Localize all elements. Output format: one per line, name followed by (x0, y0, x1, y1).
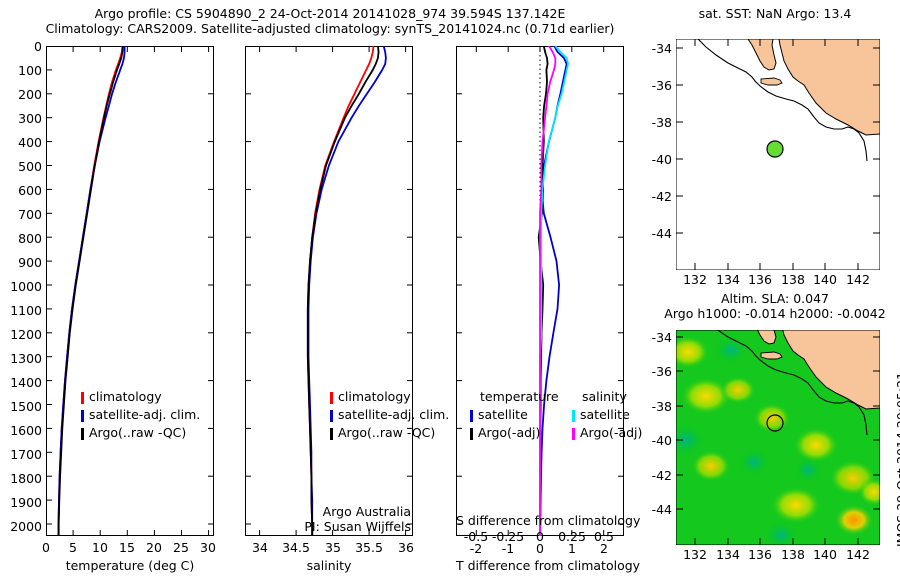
legend-swatch-argo-salinity (330, 428, 333, 440)
depth-tick-500: 500 (0, 159, 42, 174)
salinity-xtick-35: 35 (315, 540, 351, 555)
sla-blob (753, 403, 791, 433)
sla-blob-low (739, 449, 769, 475)
legend-swatch-satellite-adj-salinity (330, 410, 333, 422)
legend-label-temperature-satellite: satellite (478, 407, 528, 422)
sla-blob (770, 486, 822, 524)
temperature-axis-label: temperature (deg C) (46, 558, 214, 573)
legend-label-argo-salinity: Argo(..raw -QC) (338, 425, 435, 440)
legend-swatch-salinity-argo-adj (572, 428, 575, 440)
legend-heading-temperature: temperature (480, 389, 559, 404)
temperature-difference-axis-label: T difference from climatology (456, 558, 624, 573)
salinity-axis-label: salinity (245, 558, 413, 573)
sla-blob-low (715, 337, 747, 363)
sla-xtick-134: 134 (711, 547, 745, 562)
sst-xtick-134: 134 (711, 272, 745, 287)
argo-profile-figure: Argo profile: CS 5904890_2 24-Oct-2014 2… (0, 0, 900, 580)
salinity-plot (245, 46, 413, 536)
sla-blob (691, 450, 731, 482)
sst-map (676, 39, 880, 270)
figure-title-line1: Argo profile: CS 5904890_2 24-Oct-2014 2… (0, 6, 660, 21)
sla-xtick-136: 136 (743, 547, 777, 562)
legend-swatch-climatology-salinity (330, 392, 333, 404)
temperature-xtick-25: 25 (167, 540, 195, 555)
sst-ytick--34: -34 (640, 41, 672, 56)
argo-float-marker (767, 141, 783, 157)
temperature-xtick-20: 20 (140, 540, 168, 555)
salinity-xtick-355: 35.5 (351, 540, 387, 555)
depth-tick-1400: 1400 (0, 375, 42, 390)
legend-swatch-salinity-satellite (572, 410, 575, 422)
temperature-xtick-30: 30 (194, 540, 222, 555)
salinity-xtick-36: 36 (388, 540, 424, 555)
legend-label-satellite-adj-temperature: satellite-adj. clim. (89, 407, 200, 422)
sst-ytick--40: -40 (640, 152, 672, 167)
legend-swatch-temperature-argo-adj (470, 428, 473, 440)
difference-plot (456, 46, 624, 536)
legend-swatch-satellite-adj-temperature (81, 410, 84, 422)
project-credit-line2: PI: Susan Wijffels (253, 519, 411, 534)
sst-xtick-140: 140 (808, 272, 842, 287)
depth-tick-300: 300 (0, 111, 42, 126)
depth-tick-1600: 1600 (0, 423, 42, 438)
depth-tick-1300: 1300 (0, 351, 42, 366)
sla-ytick--36: -36 (640, 364, 672, 379)
salinity-xtick-345: 34.5 (278, 540, 314, 555)
legend-label-climatology-salinity: climatology (338, 389, 411, 404)
temperature-xtick-0: 0 (32, 540, 60, 555)
sst-ytick--42: -42 (640, 189, 672, 204)
sla-xtick-138: 138 (776, 547, 810, 562)
temperature-xtick-5: 5 (59, 540, 87, 555)
depth-tick-900: 900 (0, 255, 42, 270)
legend-label-climatology-temperature: climatology (89, 389, 162, 404)
legend-label-salinity-satellite: satellite (580, 407, 630, 422)
depth-tick-1000: 1000 (0, 279, 42, 294)
sla-blob (834, 504, 874, 536)
sst-map-title: sat. SST: NaN Argo: 13.4 (660, 6, 890, 21)
depth-tick-200: 200 (0, 87, 42, 102)
salinity-xtick-34: 34 (242, 540, 278, 555)
sla-xtick-140: 140 (808, 547, 842, 562)
sst-ytick--44: -44 (640, 226, 672, 241)
depth-tick-0: 0 (0, 39, 42, 54)
temperature-plot (46, 46, 214, 536)
sla-xtick-142: 142 (841, 547, 875, 562)
project-credit-line1: Argo Australia (253, 504, 411, 519)
legend-label-salinity-argo-adj: Argo(-adj) (580, 425, 642, 440)
depth-tick-1800: 1800 (0, 471, 42, 486)
sla-ytick--34: -34 (640, 330, 672, 345)
legend-swatch-climatology-temperature (81, 392, 84, 404)
depth-tick-100: 100 (0, 63, 42, 78)
depth-tick-2000: 2000 (0, 519, 42, 534)
temperature-xtick-10: 10 (86, 540, 114, 555)
figure-title-line2: Climatology: CARS2009. Satellite-adjuste… (0, 21, 660, 36)
imos-credit: IMOS 29-Oct-2014 20:05:21 (894, 372, 900, 547)
sla-ytick--38: -38 (640, 399, 672, 414)
legend-label-satellite-adj-salinity: satellite-adj. clim. (338, 407, 449, 422)
depth-tick-1700: 1700 (0, 447, 42, 462)
legend-swatch-temperature-satellite (470, 410, 473, 422)
sla-ytick--40: -40 (640, 433, 672, 448)
legend-heading-salinity: salinity (582, 389, 627, 404)
depth-tick-1500: 1500 (0, 399, 42, 414)
depth-tick-400: 400 (0, 135, 42, 150)
sla-blob (793, 427, 839, 463)
sla-blob-low (795, 458, 821, 482)
sla-map-title-line1: Altim. SLA: 0.047 (660, 291, 890, 306)
salinity-difference-axis-label: S difference from climatology (456, 513, 624, 528)
depth-tick-700: 700 (0, 207, 42, 222)
depth-tick-1100: 1100 (0, 303, 42, 318)
sla-blob (720, 376, 756, 404)
depth-tick-800: 800 (0, 231, 42, 246)
sst-xtick-142: 142 (841, 272, 875, 287)
legend-label-argo-temperature: Argo(..raw -QC) (89, 425, 186, 440)
depth-tick-600: 600 (0, 183, 42, 198)
temperature-xtick-15: 15 (113, 540, 141, 555)
sst-xtick-136: 136 (743, 272, 777, 287)
sst-xtick-138: 138 (776, 272, 810, 287)
depth-tick-1900: 1900 (0, 495, 42, 510)
sst-ytick--36: -36 (640, 78, 672, 93)
t-diff-xtick-2: 2 (583, 541, 625, 556)
sla-map-title-line2: Argo h1000: -0.014 h2000: -0.0042 (652, 306, 898, 321)
legend-label-temperature-argo-adj: Argo(-adj) (478, 425, 540, 440)
sla-ytick--42: -42 (640, 468, 672, 483)
depth-tick-1200: 1200 (0, 327, 42, 342)
legend-swatch-argo-temperature (81, 428, 84, 440)
sla-ytick--44: -44 (640, 502, 672, 517)
sla-xtick-132: 132 (678, 547, 712, 562)
sst-xtick-132: 132 (678, 272, 712, 287)
sst-ytick--38: -38 (640, 115, 672, 130)
sla-map (676, 330, 880, 545)
